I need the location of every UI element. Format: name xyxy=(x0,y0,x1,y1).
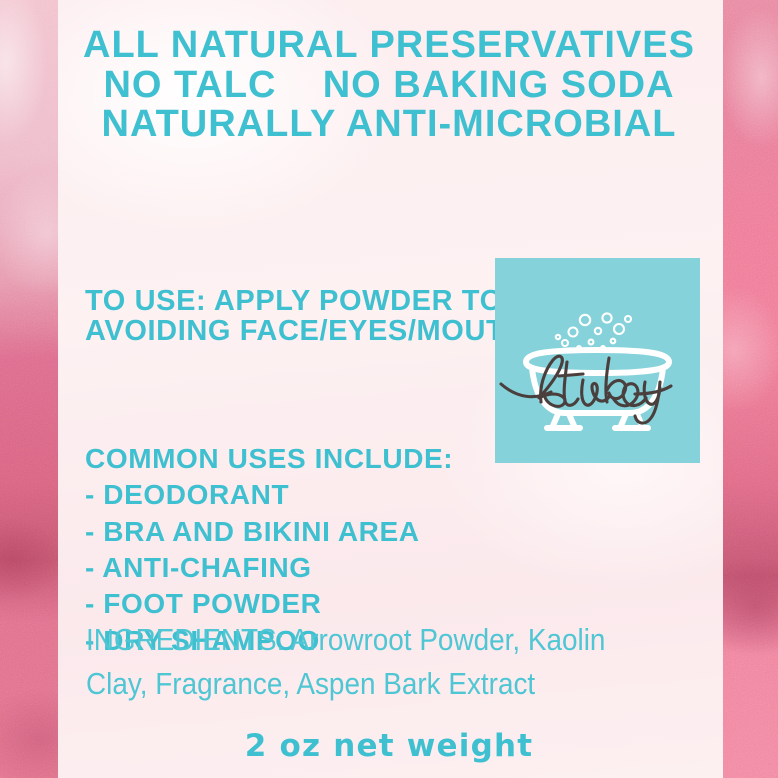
bathtub-with-bubbles-icon xyxy=(495,258,700,463)
ingredients-line-1: INGREDIENTS: Arrowroot Powder, Kaolin xyxy=(86,618,617,662)
headline-block: ALL NATURAL PRESERVATIVES NO TALC NO BAK… xyxy=(0,26,778,145)
brand-logo-tile xyxy=(495,258,700,463)
product-label: ALL NATURAL PRESERVATIVES NO TALC NO BAK… xyxy=(0,0,778,778)
headline-line-2: NO TALC NO BAKING SODA xyxy=(0,66,778,106)
bubbles-group xyxy=(556,313,631,350)
common-uses-heading: COMMON USES INCLUDE: xyxy=(85,441,505,477)
ingredients-line-2: Clay, Fragrance, Aspen Bark Extract xyxy=(86,662,617,706)
common-uses-item: - ANTI-CHAFING xyxy=(85,550,505,586)
net-weight-text: 2 oz net weight xyxy=(0,728,778,764)
headline-line-1: ALL NATURAL PRESERVATIVES xyxy=(0,26,778,66)
headline-line-3: NATURALLY ANTI-MICROBIAL xyxy=(0,105,778,145)
common-uses-item: - DEODORANT xyxy=(85,477,505,513)
common-uses-item: - BRA AND BIKINI AREA xyxy=(85,514,505,550)
ingredients-block: INGREDIENTS: Arrowroot Powder, Kaolin Cl… xyxy=(86,618,617,706)
